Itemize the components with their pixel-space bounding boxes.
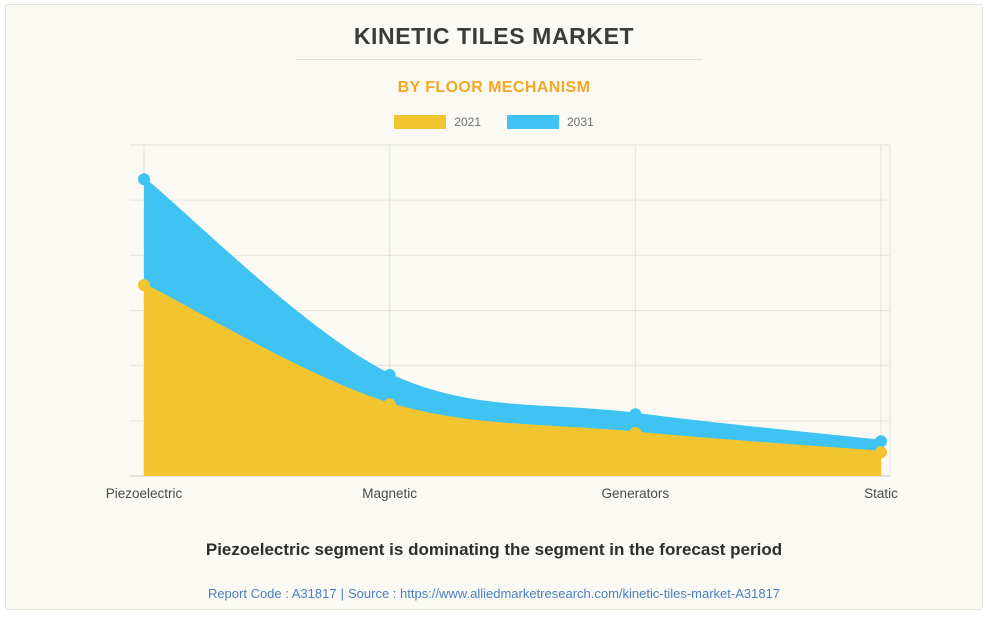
legend-label-2021: 2021 (454, 115, 481, 129)
area-series-2031 (144, 179, 881, 476)
legend-label-2031: 2031 (567, 115, 594, 129)
title-divider (296, 59, 702, 60)
chart-source-line: Report Code : A31817|Source : https://ww… (6, 586, 982, 601)
legend-item-2021[interactable]: 2021 (394, 115, 481, 129)
data-point-2021-Magnetic[interactable] (384, 398, 396, 410)
source-url-text[interactable]: Source : https://www.alliedmarketresearc… (348, 586, 780, 601)
source-separator: | (337, 586, 348, 601)
x-axis-label-1: Magnetic (280, 486, 500, 501)
chart-card: KINETIC TILES MARKET BY FLOOR MECHANISM … (5, 4, 983, 610)
chart-caption: Piezoelectric segment is dominating the … (6, 540, 982, 560)
data-point-2021-Piezoelectric[interactable] (138, 279, 150, 291)
line-series-2031 (144, 179, 881, 441)
chart-legend: 2021 2031 (6, 115, 982, 129)
legend-swatch-2031 (507, 115, 559, 129)
data-point-2031-Piezoelectric[interactable] (138, 173, 150, 185)
chart-subtitle: BY FLOOR MECHANISM (6, 79, 982, 97)
data-point-2031-Generators[interactable] (629, 408, 641, 420)
legend-swatch-2021 (394, 115, 446, 129)
report-code-text: Report Code : A31817 (208, 586, 337, 601)
data-point-2031-Magnetic[interactable] (384, 369, 396, 381)
data-point-2021-Static[interactable] (875, 446, 887, 458)
x-axis-label-2: Generators (525, 486, 745, 501)
line-series-2021 (144, 285, 881, 452)
data-point-2021-Generators[interactable] (629, 427, 641, 439)
page-title: KINETIC TILES MARKET (6, 23, 982, 50)
x-axis-label-3: Static (771, 486, 983, 501)
data-point-2031-Static[interactable] (875, 435, 887, 447)
x-axis-label-0: Piezoelectric (34, 486, 254, 501)
legend-item-2031[interactable]: 2031 (507, 115, 594, 129)
area-series-2021 (144, 285, 881, 476)
